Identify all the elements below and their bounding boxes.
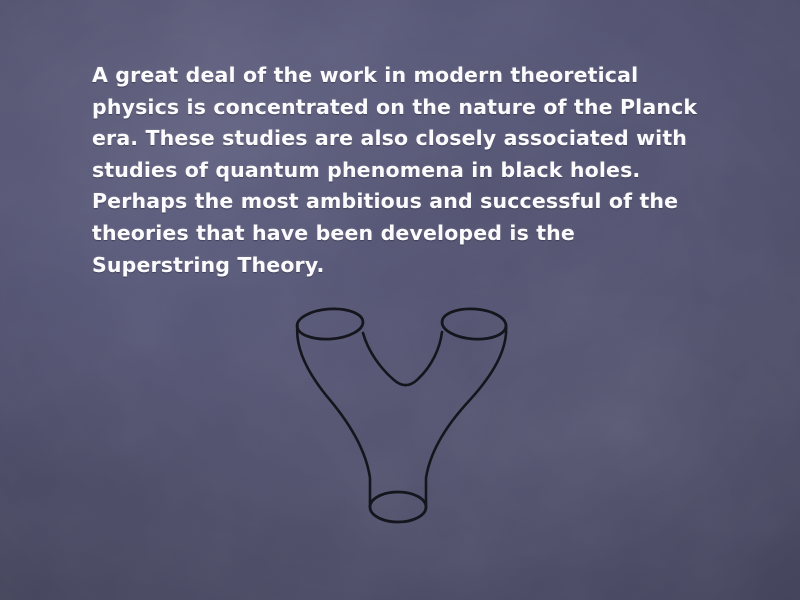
right-string-boundary <box>441 307 507 341</box>
slide-body-text: A great deal of the work in modern theor… <box>92 60 717 281</box>
outgoing-string-boundary <box>370 492 426 522</box>
left-string-boundary <box>296 307 364 342</box>
slide-canvas: A great deal of the work in modern theor… <box>0 0 800 600</box>
pair-of-pants-diagram <box>282 296 522 536</box>
